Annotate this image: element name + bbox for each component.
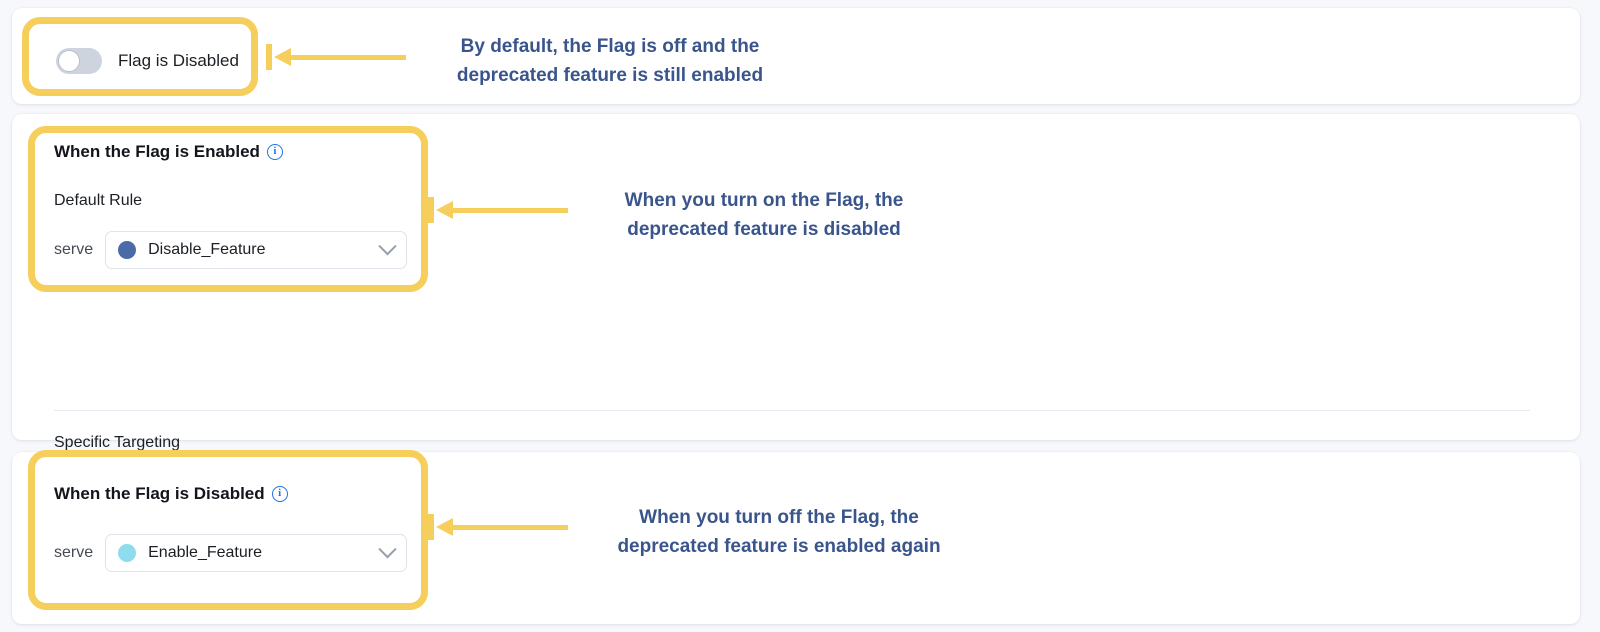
info-circle-icon[interactable]: i — [272, 486, 288, 502]
rules-divider — [54, 410, 1530, 411]
annotation-turn-off: When you turn off the Flag, the deprecat… — [572, 503, 986, 562]
when-flag-enabled-title: When the Flag is Enabled — [54, 142, 260, 162]
variation-select-value: Disable_Feature — [148, 241, 369, 259]
default-rule-serve-row: serve Disable_Feature — [54, 231, 407, 269]
when-flag-enabled-heading: When the Flag is Enabled i — [54, 142, 283, 162]
disabled-variation-select[interactable]: Enable_Feature — [105, 534, 407, 572]
flag-rules-card: When the Flag is Enabled i Default Rule … — [12, 114, 1580, 440]
serve-label: serve — [54, 241, 93, 259]
variation-color-swatch — [118, 241, 136, 259]
variation-select-value: Enable_Feature — [148, 544, 369, 562]
toggle-knob — [58, 50, 80, 72]
default-rule-label: Default Rule — [54, 192, 142, 210]
page-root: Flag is Disabled When the Flag is Enable… — [0, 0, 1600, 632]
chevron-down-icon[interactable] — [378, 237, 396, 255]
annotation-turn-on: When you turn on the Flag, the deprecate… — [586, 186, 942, 245]
when-flag-disabled-heading: When the Flag is Disabled i — [54, 484, 288, 504]
flag-toggle-row[interactable]: Flag is Disabled — [56, 48, 239, 74]
toggle-off-icon[interactable] — [56, 48, 102, 74]
info-circle-icon[interactable]: i — [267, 144, 283, 160]
default-rule-variation-select[interactable]: Disable_Feature — [105, 231, 407, 269]
left-arrow-icon — [428, 514, 568, 540]
left-arrow-icon — [428, 197, 568, 223]
disabled-serve-row: serve Enable_Feature — [54, 534, 407, 572]
chevron-down-icon[interactable] — [378, 540, 396, 558]
serve-label: serve — [54, 544, 93, 562]
annotation-default-off: By default, the Flag is off and the depr… — [414, 32, 806, 91]
flag-toggle-label: Flag is Disabled — [118, 51, 239, 71]
left-arrow-icon — [266, 44, 406, 70]
when-flag-disabled-title: When the Flag is Disabled — [54, 484, 265, 504]
variation-color-swatch — [118, 544, 136, 562]
specific-targeting-label: Specific Targeting — [54, 434, 180, 452]
